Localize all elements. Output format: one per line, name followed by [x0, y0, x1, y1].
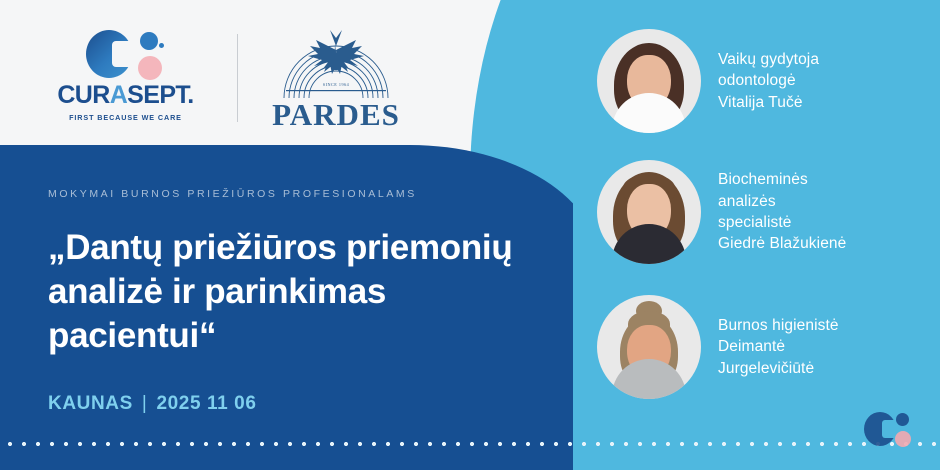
curasept-word-part1: CUR: [57, 81, 109, 109]
event-separator: |: [142, 393, 148, 414]
promo-banner: CURASEPT. FIRST BECAUSE WE CARE: [0, 0, 940, 470]
header-logo-bar: CURASEPT. FIRST BECAUSE WE CARE: [0, 0, 573, 145]
speakers-list: Vaikų gydytoja odontologė Vitalija Tučė …: [597, 0, 940, 470]
page-title: „Dantų priežiūros priemonių analizė ir p…: [48, 226, 548, 357]
pardes-since-text: SINCE 1964: [323, 82, 350, 87]
avatar: [597, 295, 701, 399]
curasept-blue-dot: [140, 32, 158, 50]
eyebrow-text: MOKYMAI BURNOS PRIEŽIŪROS PROFESIONALAMS: [48, 188, 548, 200]
avatar: [597, 160, 701, 264]
speaker-description: Burnos higienistė Deimantė Jurgelevičiūt…: [718, 315, 839, 379]
main-content: MOKYMAI BURNOS PRIEŽIŪROS PROFESIONALAMS…: [48, 188, 548, 415]
speaker-description: Vaikų gydytoja odontologė Vitalija Tučė: [718, 49, 819, 113]
event-date: 2025 11 06: [156, 393, 256, 414]
list-item: Vaikų gydytoja odontologė Vitalija Tučė: [597, 29, 940, 133]
curasept-watermark-icon: [864, 410, 922, 454]
curasept-tiny-dot: [159, 43, 164, 48]
watermark-c-shape: [864, 412, 896, 446]
watermark-pink-dot: [895, 431, 911, 447]
curasept-word-part2: SEPT.: [127, 81, 193, 109]
pardes-wordmark: PARDES: [272, 99, 400, 130]
avatar: [597, 29, 701, 133]
event-details: KAUNAS|2025 11 06: [48, 393, 548, 415]
list-item: Burnos higienistė Deimantė Jurgelevičiūt…: [597, 295, 940, 399]
curasept-tagline: FIRST BECAUSE WE CARE: [69, 113, 182, 122]
logo-row: CURASEPT. FIRST BECAUSE WE CARE: [48, 26, 400, 130]
curasept-logo: CURASEPT. FIRST BECAUSE WE CARE: [48, 30, 203, 126]
event-city: KAUNAS: [48, 393, 133, 414]
watermark-blue-dot: [896, 413, 909, 426]
speaker-description: Biocheminės analizės specialistė Giedrė …: [718, 169, 846, 255]
logo-divider: [237, 34, 238, 122]
curasept-word-accent: A: [110, 81, 127, 109]
pardes-logo: SINCE 1964 PARDES: [272, 26, 400, 130]
list-item: Biocheminės analizės specialistė Giedrė …: [597, 160, 940, 264]
pardes-tree-icon: SINCE 1964: [272, 26, 400, 100]
dotted-divider: [0, 440, 940, 448]
curasept-pink-dot: [138, 56, 162, 80]
curasept-wordmark: CURASEPT.: [57, 83, 193, 108]
curasept-c-shape: [86, 30, 132, 78]
curasept-mark-icon: [80, 30, 172, 80]
